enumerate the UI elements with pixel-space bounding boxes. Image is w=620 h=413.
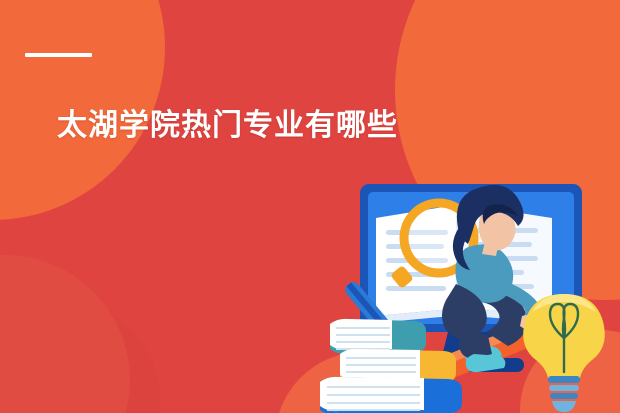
book-blue — [320, 377, 462, 413]
accent-rule — [25, 53, 92, 57]
banner-title: 太湖学院热门专业有哪些 — [57, 108, 398, 144]
study-search-illustration — [316, 176, 620, 413]
decorative-circle-bottom-left — [0, 255, 130, 413]
book-teal — [330, 319, 426, 354]
stacked-books — [320, 319, 462, 413]
lightbulb-icon — [523, 294, 605, 412]
promo-banner: 太湖学院热门专业有哪些 — [0, 0, 620, 413]
